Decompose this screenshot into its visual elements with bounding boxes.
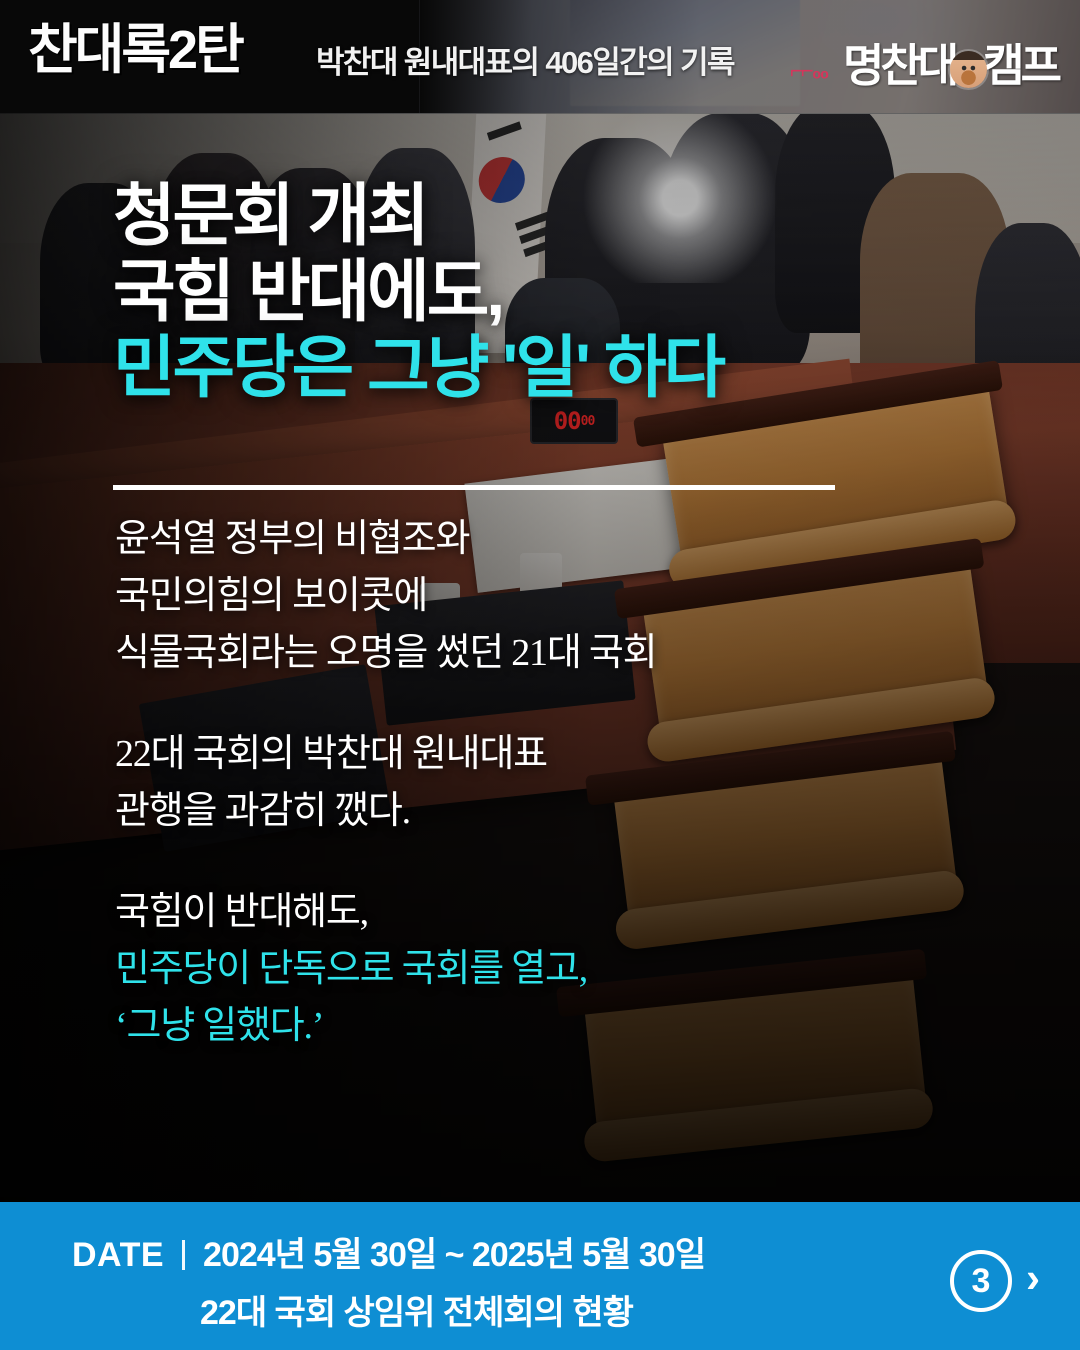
- portrait-avatar-icon: [950, 51, 987, 88]
- headline-line-1: 청문회 개최: [113, 178, 723, 254]
- body-p1-line3: 식물국회라는 오명을 썼던 21대 국회: [115, 625, 656, 682]
- footer-date-row: DATE 2024년 5월 30일 ~ 2025년 5월 30일: [72, 1234, 705, 1277]
- card-news-slide: ⌐⌐₀₀ 찬대록2탄 박찬대 원내대표의 406일간의 기록 명찬대 캠프: [0, 0, 1080, 1350]
- body-p3-line2-accent: 민주당이 단독으로 국회를 열고,: [115, 941, 656, 998]
- text-overlay: 청문회 개최 국힘 반대에도, 민주당은 그냥 '일' 하다 윤석열 정부의 비…: [0, 113, 1080, 1202]
- body-p2-line2: 관행을 과감히 깼다.: [115, 783, 656, 840]
- headline-underline-rule: [113, 485, 835, 490]
- headline-line-3-accent: 민주당은 그냥 '일' 하다: [113, 330, 723, 406]
- footer-subtitle: 22대 국회 상임위 전체회의 현황: [200, 1285, 705, 1334]
- pager-group[interactable]: 3 ›: [950, 1250, 1040, 1312]
- body-p3-line3-accent: ‘그냥 일했다.’: [115, 998, 656, 1055]
- body-p3-line1: 국힘이 반대해도,: [115, 884, 656, 941]
- brand-title: 찬대록2탄: [28, 23, 242, 77]
- footer-date-label: DATE: [72, 1234, 164, 1277]
- footer-date-range: 2024년 5월 30일 ~ 2025년 5월 30일: [203, 1234, 705, 1277]
- page-number-badge: 3: [950, 1250, 1012, 1312]
- paragraph-spacer: [115, 840, 656, 884]
- camp-logo-text-right: 캠프: [983, 43, 1058, 88]
- body-copy: 윤석열 정부의 비협조와 국민의힘의 보이콧에 식물국회라는 오명을 썼던 21…: [115, 511, 656, 1055]
- headline-line-2: 국힘 반대에도,: [113, 254, 723, 330]
- next-slide-chevron-icon[interactable]: ›: [1026, 1257, 1040, 1299]
- camp-logo-text-left: 명찬대: [843, 43, 955, 88]
- headline-block: 청문회 개최 국힘 반대에도, 민주당은 그냥 '일' 하다: [113, 178, 723, 406]
- header-bar: ⌐⌐₀₀ 찬대록2탄 박찬대 원내대표의 406일간의 기록 명찬대 캠프: [0, 0, 1080, 113]
- footer-bar: DATE 2024년 5월 30일 ~ 2025년 5월 30일 22대 국회 …: [0, 1202, 1080, 1350]
- body-p1-line1: 윤석열 정부의 비협조와: [115, 511, 656, 568]
- footer-divider-icon: [182, 1240, 185, 1270]
- brand-subtitle: 박찬대 원내대표의 406일간의 기록: [316, 47, 734, 78]
- body-p1-line2: 국민의힘의 보이콧에: [115, 568, 656, 625]
- paragraph-spacer: [115, 682, 656, 726]
- footer-text-group: DATE 2024년 5월 30일 ~ 2025년 5월 30일 22대 국회 …: [72, 1234, 705, 1334]
- camp-logo[interactable]: 명찬대 캠프: [843, 38, 1058, 92]
- body-p2-line1: 22대 국회의 박찬대 원내대표: [115, 726, 656, 783]
